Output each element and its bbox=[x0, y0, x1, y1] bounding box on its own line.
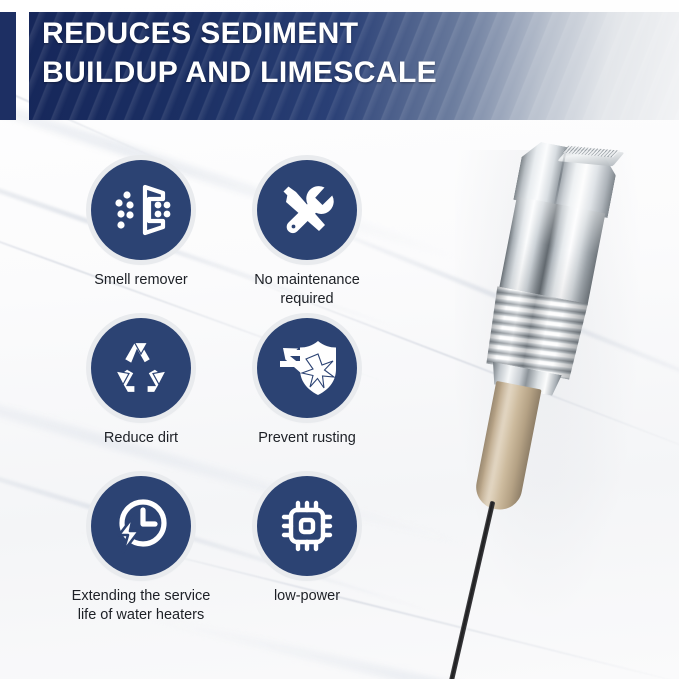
feature-item-reduce-dirt[interactable]: Reduce dirt bbox=[56, 318, 226, 448]
feature-badge bbox=[91, 160, 191, 260]
water-filter-molecules-icon bbox=[111, 181, 171, 239]
product-feature-infographic: REDUCES SEDIMENT BUILDUP AND LIMESCALE bbox=[0, 0, 679, 679]
feature-item-extend-service-life[interactable]: Extending the service life of water heat… bbox=[56, 476, 226, 625]
feature-caption: Extending the service life of water heat… bbox=[56, 587, 226, 625]
feature-badge bbox=[257, 318, 357, 418]
feature-badge bbox=[257, 160, 357, 260]
recycle-icon bbox=[112, 340, 170, 396]
product-image-anode-rod bbox=[430, 130, 679, 679]
clock-lightning-icon bbox=[111, 497, 171, 555]
feature-badge bbox=[91, 318, 191, 418]
feature-caption: No maintenance required bbox=[222, 271, 392, 309]
feature-badge bbox=[91, 476, 191, 576]
wrench-screwdriver-icon bbox=[278, 181, 336, 239]
banner-accent-bar bbox=[0, 12, 16, 120]
feature-caption: Smell remover bbox=[56, 271, 226, 290]
feature-caption: Prevent rusting bbox=[222, 429, 392, 448]
feature-item-prevent-rusting[interactable]: Prevent rusting bbox=[222, 318, 392, 448]
page-title: REDUCES SEDIMENT BUILDUP AND LIMESCALE bbox=[42, 14, 602, 92]
microchip-icon bbox=[278, 497, 336, 555]
sleeve-highlight bbox=[472, 381, 541, 513]
feature-caption: Reduce dirt bbox=[56, 429, 226, 448]
chrome-barrel-shine bbox=[499, 196, 605, 305]
header-banner: REDUCES SEDIMENT BUILDUP AND LIMESCALE bbox=[0, 0, 679, 131]
shield-deflect-impact-icon bbox=[276, 338, 338, 398]
feature-item-no-maintenance[interactable]: No maintenance required bbox=[222, 160, 392, 309]
feature-item-smell-remover[interactable]: Smell remover bbox=[56, 160, 226, 290]
titanium-rod bbox=[423, 501, 495, 679]
feature-badge bbox=[257, 476, 357, 576]
